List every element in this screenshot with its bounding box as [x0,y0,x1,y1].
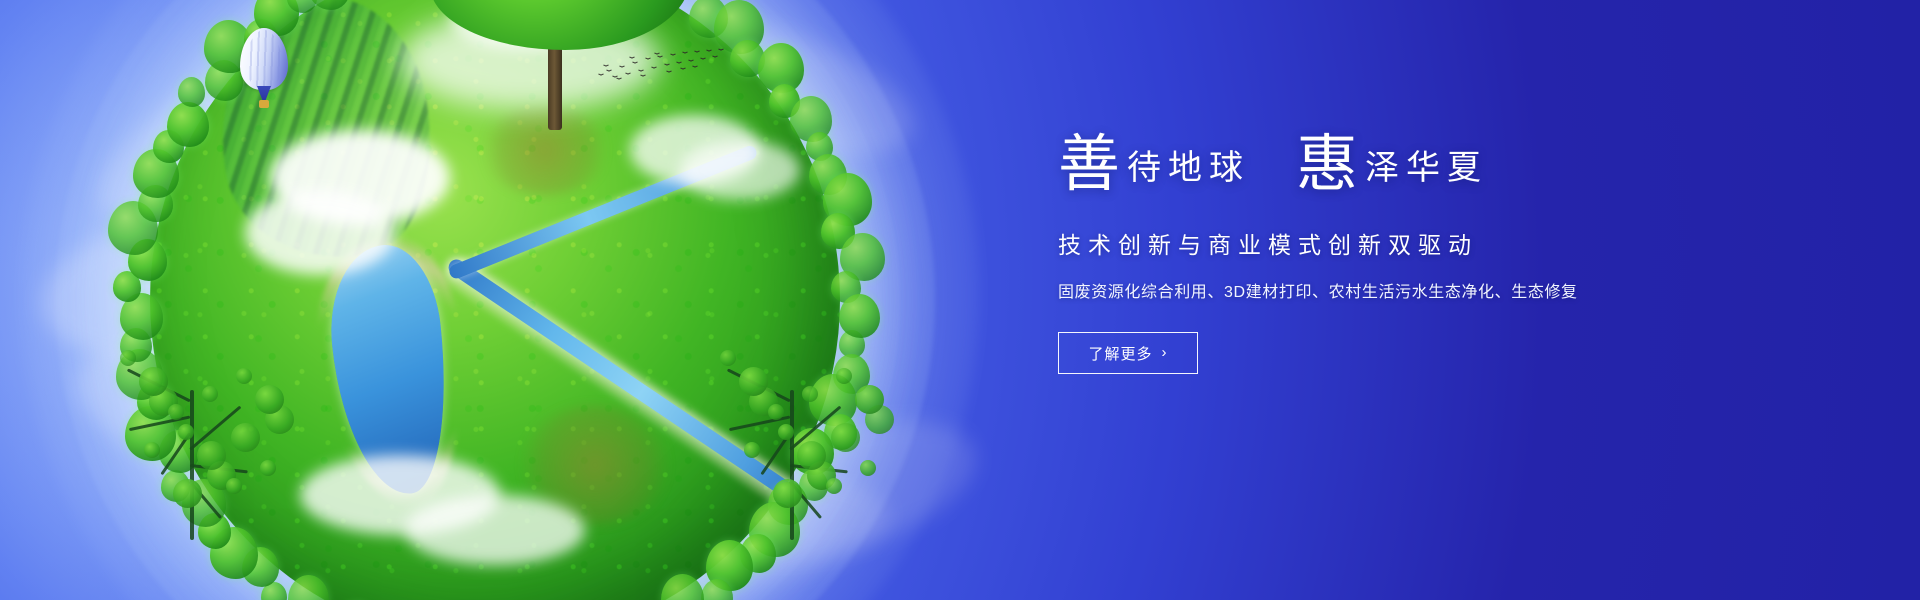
tree-foliage [855,385,884,414]
bird-icon [645,58,650,61]
bird-icon [680,68,685,71]
bird-icon [712,56,717,59]
bird-icon [616,78,621,81]
bird-icon [640,75,645,78]
tree-canopy [120,328,152,363]
bird-icon [619,66,624,69]
page-title: 善 待地球 惠 泽华夏 [1058,132,1678,218]
learn-more-button[interactable]: 了解更多 › [1058,332,1198,374]
bird-icon [638,70,643,73]
bird-icon [718,49,723,52]
bird-icon [598,74,603,77]
bird-icon [632,62,637,65]
bird-icon [670,54,675,57]
bird-icon [682,52,687,55]
bird-icon [654,53,659,56]
bird-icon [664,64,669,67]
bird-icon [603,65,608,68]
bird-flock-icon [596,48,726,88]
headline-char-2: 惠 [1296,134,1359,196]
chevron-right-icon: › [1162,345,1168,360]
bird-icon [651,67,656,70]
tree-canopy [430,0,690,50]
headline-char-1: 善 [1058,134,1121,196]
planet-cloud [245,190,395,275]
tree-foliage [860,460,876,476]
bird-icon [694,51,699,54]
planet-cloud [680,140,800,200]
headline-rest-2: 泽华夏 [1365,152,1488,186]
bird-icon [606,70,611,73]
tree-foliage [865,405,894,434]
bird-icon [676,62,681,65]
hero-banner: 善 待地球 惠 泽华夏 技术创新与商业模式创新双驱动 固废资源化综合利用、3D建… [0,0,1920,600]
hot-air-balloon-icon [240,28,288,124]
tree-canopy [839,294,880,338]
bird-icon [692,66,697,69]
tree-canopy [113,271,141,301]
hero-description: 固废资源化综合利用、3D建材打印、农村生活污水生态净化、生态修复 [1058,278,1678,302]
balloon-skirt [257,86,271,100]
learn-more-label: 了解更多 [1088,343,1152,364]
balloon-basket [259,100,269,108]
planet-cloud [405,495,585,565]
bird-icon [666,71,671,74]
tree-foliage [120,350,136,366]
hero-subtitle: 技术创新与商业模式创新双驱动 [1058,226,1678,260]
bird-icon [688,60,693,63]
bird-icon [700,58,705,61]
tree-canopy [839,330,865,358]
balloon-envelope [240,28,288,90]
bird-icon [629,57,634,60]
headline-rest-1: 待地球 [1127,152,1250,186]
bird-icon [657,56,662,59]
hero-copy: 善 待地球 惠 泽华夏 技术创新与商业模式创新双驱动 固废资源化综合利用、3D建… [1058,132,1678,374]
bird-icon [625,73,630,76]
bird-icon [706,50,711,53]
tree-canopy [840,233,885,282]
